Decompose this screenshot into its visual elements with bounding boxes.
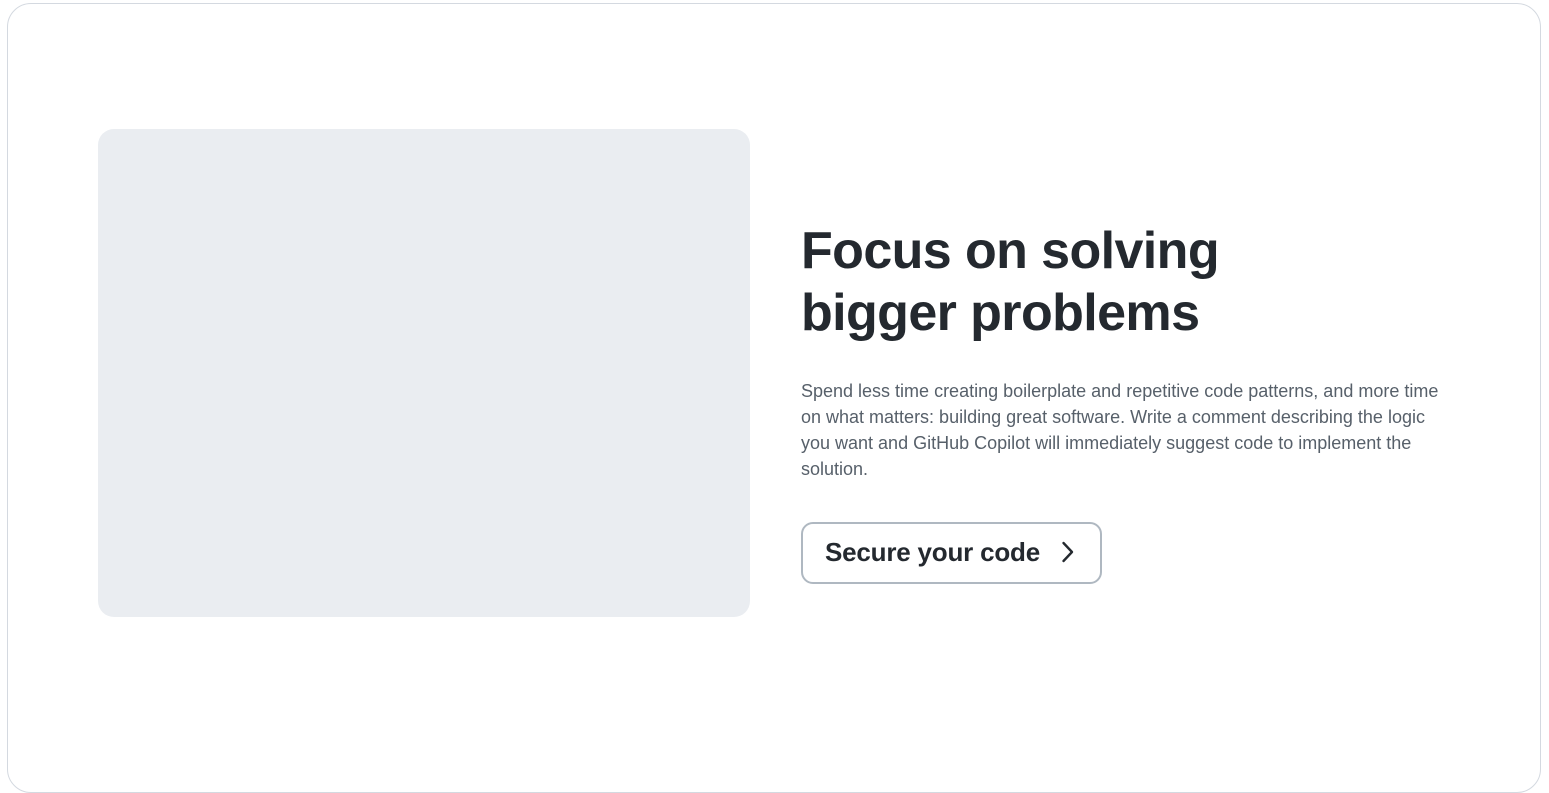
chevron-right-icon: [1058, 539, 1078, 565]
feature-heading: Focus on solving bigger problems: [801, 220, 1361, 344]
feature-description: Spend less time creating boilerplate and…: [801, 378, 1447, 482]
secure-your-code-button-label: Secure your code: [825, 536, 1040, 568]
page-root: Focus on solving bigger problems Spend l…: [0, 0, 1549, 744]
feature-card: Focus on solving bigger problems Spend l…: [7, 3, 1541, 793]
feature-card-inner: Focus on solving bigger problems Spend l…: [8, 4, 1540, 792]
feature-illustration-placeholder: [98, 129, 750, 617]
feature-content-column: Focus on solving bigger problems Spend l…: [801, 220, 1449, 584]
secure-your-code-button[interactable]: Secure your code: [801, 522, 1102, 584]
